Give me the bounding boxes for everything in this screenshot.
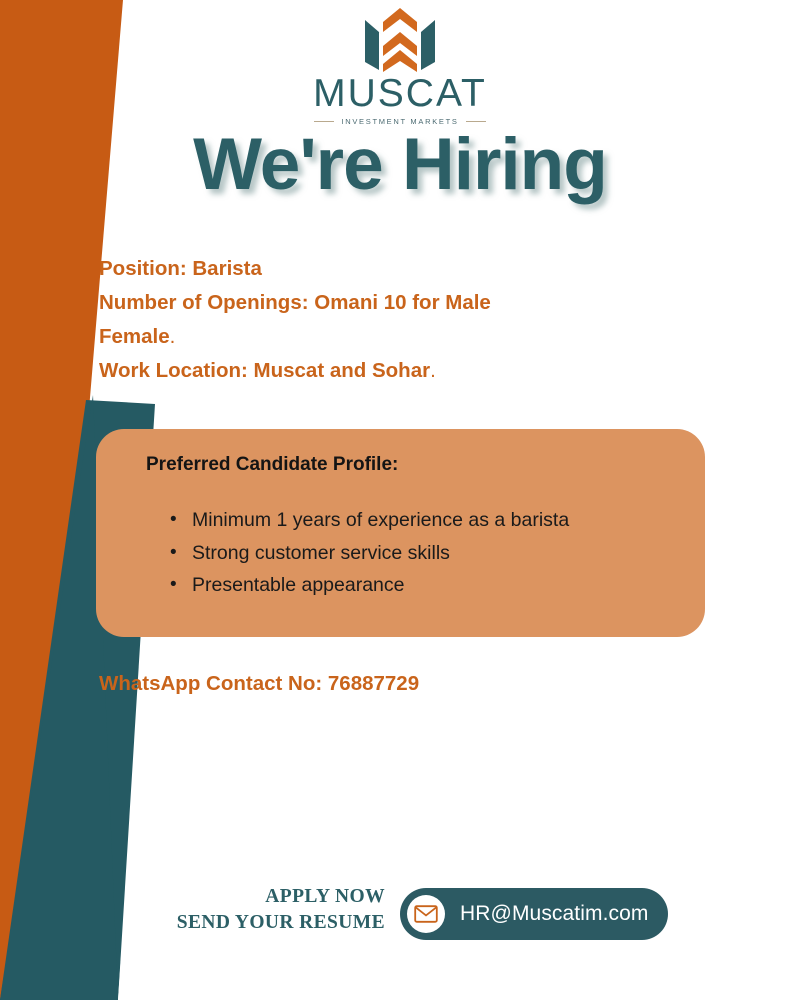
list-item: •Strong customer service skills [192, 537, 569, 570]
detail-location-period: . [430, 359, 436, 382]
list-item-label: Strong customer service skills [192, 542, 450, 564]
whatsapp-contact: WhatsApp Contact No: 76887729 [99, 672, 419, 696]
bullet-icon: • [170, 569, 177, 602]
job-poster: MUSCAT INVESTMENT MARKETS We're Hiring P… [0, 0, 800, 1000]
profile-card-title: Preferred Candidate Profile: [146, 454, 398, 476]
list-item: •Minimum 1 years of experience as a bari… [192, 504, 569, 537]
tagline-rule-right [466, 121, 486, 122]
apply-now-line-1: APPLY NOW [140, 884, 385, 910]
list-item: •Presentable appearance [192, 569, 569, 602]
envelope-icon [407, 895, 445, 933]
candidate-profile-card: Preferred Candidate Profile: •Minimum 1 … [96, 429, 705, 637]
detail-openings-continued: Female. [99, 320, 699, 354]
bullet-icon: • [170, 504, 177, 537]
bullet-icon: • [170, 537, 177, 570]
list-item-label: Minimum 1 years of experience as a baris… [192, 509, 569, 531]
apply-now-line-2: SEND YOUR RESUME [140, 910, 385, 936]
profile-requirements-list: •Minimum 1 years of experience as a bari… [142, 504, 569, 602]
detail-openings: Number of Openings: Omani 10 for Male [99, 286, 699, 320]
apply-now-text: APPLY NOW SEND YOUR RESUME [140, 884, 385, 936]
email-address: HR@Muscatim.com [460, 902, 649, 926]
detail-openings-period: . [170, 325, 176, 348]
brand-wordmark: MUSCAT [0, 74, 800, 113]
detail-location: Work Location: Muscat and Sohar. [99, 354, 699, 388]
job-details: Position: Barista Number of Openings: Om… [99, 252, 699, 388]
page-title: We're Hiring [0, 128, 800, 201]
list-item-label: Presentable appearance [192, 574, 405, 596]
detail-location-text: Work Location: Muscat and Sohar [99, 359, 430, 382]
tagline-rule-left [314, 121, 334, 122]
email-contact-pill[interactable]: HR@Muscatim.com [400, 888, 668, 940]
brand-logo: MUSCAT INVESTMENT MARKETS [0, 6, 800, 126]
muscat-m-chevron-logo-icon [357, 6, 443, 72]
detail-position: Position: Barista [99, 252, 699, 286]
detail-openings-female: Female [99, 325, 170, 348]
envelope-icon-glyph [414, 905, 438, 923]
